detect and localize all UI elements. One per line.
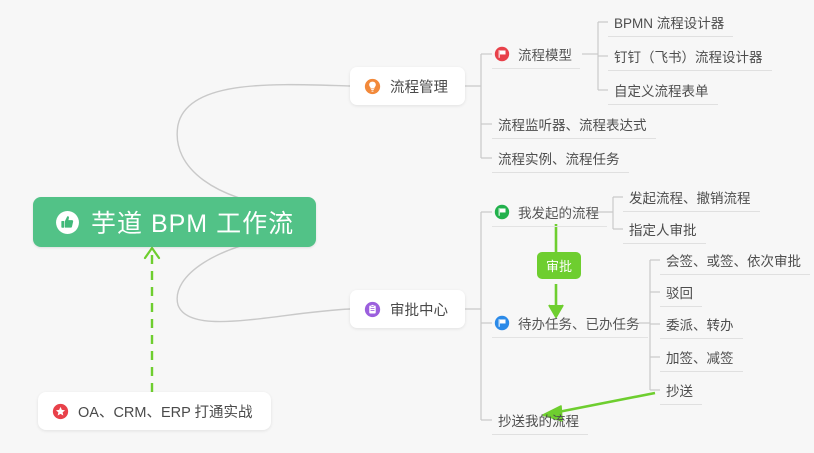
arrowhead-callout-to-root	[145, 248, 159, 258]
leaf-start-cancel-flow[interactable]: 发起流程、撤销流程	[623, 183, 760, 212]
callout-node-integration[interactable]: OA、CRM、ERP 打通实战	[38, 392, 271, 430]
leaf-countersign[interactable]: 会签、或签、依次审批	[660, 246, 810, 275]
leaf-custom-form[interactable]: 自定义流程表单	[608, 76, 718, 105]
node-my-initiated-flows[interactable]: 我发起的流程	[492, 197, 607, 227]
root-label: 芋道 BPM 工作流	[91, 204, 294, 240]
star-icon	[52, 403, 69, 420]
leaf-label-designated-approver: 指定人审批	[629, 219, 697, 239]
leaf-process-listener[interactable]: 流程监听器、流程表达式	[492, 110, 656, 139]
thumbs-up-icon	[55, 210, 80, 235]
branch-label-process-management: 流程管理	[390, 76, 448, 97]
leaf-add-remove-sign[interactable]: 加签、减签	[660, 343, 743, 372]
leaf-label-process-instance: 流程实例、流程任务	[498, 148, 620, 168]
leaf-reject[interactable]: 驳回	[660, 278, 702, 307]
leaf-label-custom-form: 自定义流程表单	[614, 80, 709, 100]
leaf-label-bpmn-designer: BPMN 流程设计器	[614, 12, 724, 32]
leaf-delegate-transfer[interactable]: 委派、转办	[660, 310, 743, 339]
leaf-cc-to-me-flows[interactable]: 抄送我的流程	[492, 406, 588, 435]
node-label-process-model: 流程模型	[518, 44, 572, 64]
flag-icon-blue	[494, 315, 510, 331]
node-todo-done-tasks[interactable]: 待办任务、已办任务	[492, 308, 648, 338]
node-label-todo-done-tasks: 待办任务、已办任务	[518, 313, 640, 333]
node-process-model[interactable]: 流程模型	[492, 39, 580, 69]
leaf-label-start-cancel-flow: 发起流程、撤销流程	[629, 187, 751, 207]
callout-label-integration: OA、CRM、ERP 打通实战	[78, 401, 253, 422]
connector-root-to-process-management	[177, 85, 350, 207]
lightbulb-icon	[364, 78, 381, 95]
leaf-label-add-remove-sign: 加签、减签	[666, 347, 734, 367]
leaf-cc[interactable]: 抄送	[660, 376, 702, 405]
clipboard-icon	[364, 301, 381, 318]
branch-label-approval-center: 审批中心	[390, 299, 448, 320]
leaf-bpmn-designer[interactable]: BPMN 流程设计器	[608, 8, 733, 37]
connector-root-to-approval-center	[177, 237, 350, 322]
branch-node-approval-center[interactable]: 审批中心	[350, 290, 465, 328]
flag-icon-green	[494, 204, 510, 220]
leaf-dingtalk-designer[interactable]: 钉钉（飞书）流程设计器	[608, 42, 772, 71]
branch-node-process-management[interactable]: 流程管理	[350, 67, 465, 105]
flag-icon-red	[494, 46, 510, 62]
leaf-label-countersign: 会签、或签、依次审批	[666, 250, 801, 270]
leaf-process-instance[interactable]: 流程实例、流程任务	[492, 144, 629, 173]
leaf-label-cc: 抄送	[666, 380, 693, 400]
tag-label-approval: 审批	[546, 256, 572, 275]
root-node[interactable]: 芋道 BPM 工作流	[33, 197, 316, 247]
leaf-label-process-listener: 流程监听器、流程表达式	[498, 114, 647, 134]
leaf-label-delegate-transfer: 委派、转办	[666, 314, 734, 334]
leaf-label-dingtalk-designer: 钉钉（飞书）流程设计器	[614, 46, 763, 66]
mindmap-canvas: 芋道 BPM 工作流 流程管理 流程模型 BPMN 流程设计器 钉钉（飞书）流	[0, 0, 814, 453]
tag-approval[interactable]: 审批	[537, 252, 581, 279]
leaf-designated-approver[interactable]: 指定人审批	[623, 215, 706, 244]
leaf-label-cc-to-me-flows: 抄送我的流程	[498, 410, 579, 430]
node-label-my-initiated-flows: 我发起的流程	[518, 202, 599, 222]
leaf-label-reject: 驳回	[666, 282, 693, 302]
